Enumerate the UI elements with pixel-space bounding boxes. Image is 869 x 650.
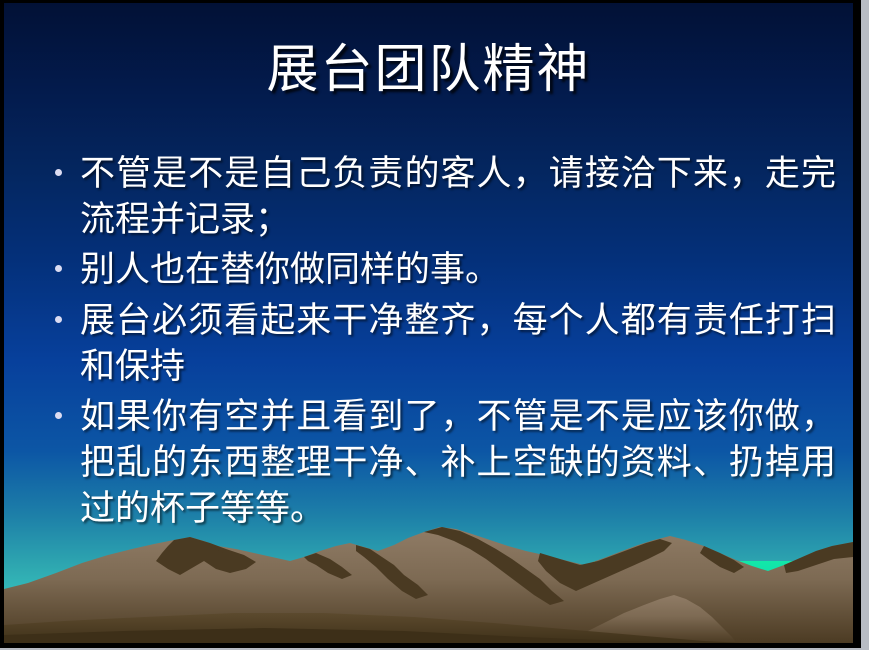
bullet-text-3: 展台必须看起来干净整齐，每个人都有责任打扫和保持 bbox=[80, 298, 836, 390]
list-item: 不管是不是自己负责的客人，请接洽下来，走完流程并记录； bbox=[46, 151, 836, 243]
list-item: 别人也在替你做同样的事。 bbox=[46, 247, 836, 293]
bullet-dot-icon bbox=[46, 247, 80, 272]
slide-page: 展台团队精神 不管是不是自己负责的客人，请接洽下来，走完流程并记录； 别人也在替… bbox=[0, 0, 869, 650]
bullet-text-4: 如果你有空并且看到了，不管是不是应该你做，把乱的东西整理干净、补上空缺的资料、扔… bbox=[80, 394, 836, 533]
presentation-slide: 展台团队精神 不管是不是自己负责的客人，请接洽下来，走完流程并记录； 别人也在替… bbox=[4, 3, 853, 643]
slide-content: 展台团队精神 不管是不是自己负责的客人，请接洽下来，走完流程并记录； 别人也在替… bbox=[4, 3, 853, 643]
slide-title: 展台团队精神 bbox=[4, 45, 853, 97]
bullet-text-1: 不管是不是自己负责的客人，请接洽下来，走完流程并记录； bbox=[80, 151, 836, 243]
list-item: 如果你有空并且看到了，不管是不是应该你做，把乱的东西整理干净、补上空缺的资料、扔… bbox=[46, 394, 836, 533]
bullet-list: 不管是不是自己负责的客人，请接洽下来，走完流程并记录； 别人也在替你做同样的事。… bbox=[46, 151, 836, 537]
bullet-dot-icon bbox=[46, 298, 80, 323]
bullet-text-2: 别人也在替你做同样的事。 bbox=[80, 247, 836, 293]
list-item: 展台必须看起来干净整齐，每个人都有责任打扫和保持 bbox=[46, 298, 836, 390]
bullet-dot-icon bbox=[46, 151, 80, 176]
slide-frame: 展台团队精神 不管是不是自己负责的客人，请接洽下来，走完流程并记录； 别人也在替… bbox=[0, 0, 861, 648]
bullet-dot-icon bbox=[46, 394, 80, 419]
